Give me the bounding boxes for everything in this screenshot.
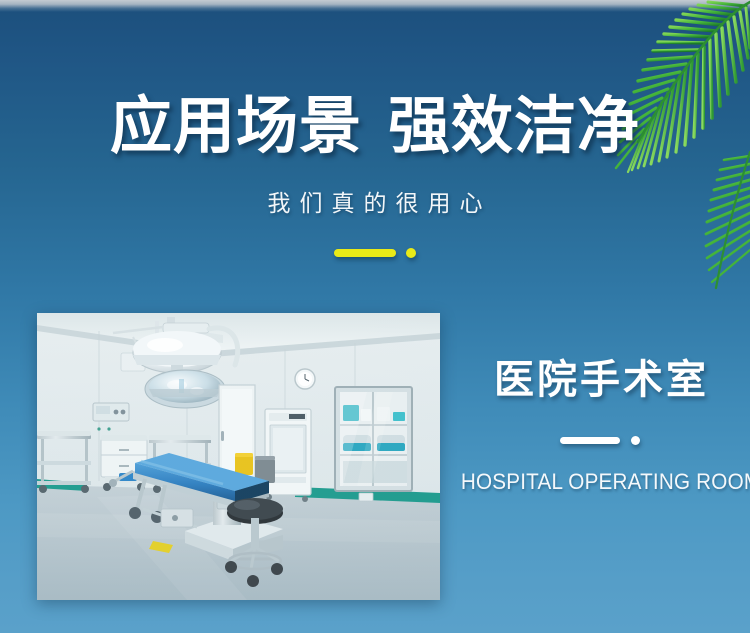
divider-bar [560,437,620,444]
banner-subheadline: 我们真的很用心 [0,188,750,218]
divider-bar [334,249,396,257]
white-divider [462,436,738,445]
headline-part-2: 强效洁净 [388,92,640,161]
promo-banner: 应用场景强效洁净 我们真的很用心 [0,0,750,633]
yellow-divider [0,248,750,258]
banner-headline: 应用场景强效洁净 [0,92,750,162]
operating-room-photo [37,313,440,600]
top-sheen-strip [0,0,750,12]
photo-caption-english: HOSPITAL OPERATING ROOM [461,468,739,496]
divider-dot [406,248,416,258]
hospital-operating-room-image [37,313,440,600]
headline-part-1: 应用场景 [110,92,362,161]
divider-dot [631,436,640,445]
photo-caption-chinese: 医院手术室 [462,356,738,404]
